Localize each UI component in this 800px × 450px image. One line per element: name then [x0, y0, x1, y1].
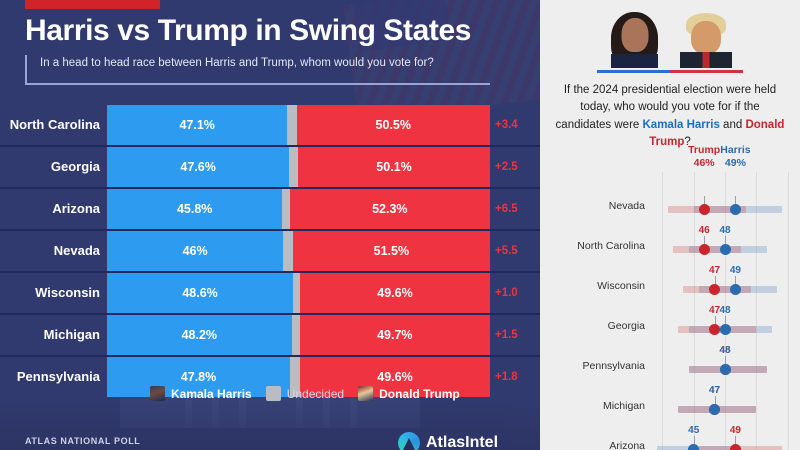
harris-value-label: 49 — [730, 265, 741, 276]
trump-photo — [670, 8, 741, 68]
trump-segment: 49.6% — [300, 273, 490, 313]
trump-face-shape — [691, 21, 721, 54]
undecided-segment — [292, 315, 300, 355]
dot-row: Wisconsin4749 — [540, 266, 800, 306]
bar-row: Michigan48.2%49.7%+1.5 — [0, 313, 540, 355]
dot-row-state-label: Georgia — [540, 306, 645, 346]
bar-row-state-label: Pennsylvania — [0, 357, 100, 397]
question-conjunction: and — [720, 119, 742, 131]
trump-dot[interactable] — [699, 204, 710, 215]
infographic-root: Harris vs Trump in Swing States In a hea… — [0, 0, 800, 450]
left-panel: Harris vs Trump in Swing States In a hea… — [0, 0, 540, 450]
dot-row: Georgia4748 — [540, 306, 800, 346]
trump-margin-label: +1.0 — [495, 273, 518, 313]
undecided-swatch-icon — [266, 386, 281, 401]
bar-track: 47.1%50.5% — [107, 105, 490, 145]
trump-value-label: 46 — [699, 225, 710, 236]
bar-row-state-label: North Carolina — [0, 105, 100, 145]
page-title: Harris vs Trump in Swing States — [25, 14, 471, 48]
trump-margin-label: +1.8 — [495, 357, 518, 397]
harris-segment: 47.1% — [107, 105, 287, 145]
trump-margin-label: +3.4 — [495, 105, 518, 145]
harris-value-label: 48 — [719, 345, 730, 356]
bar-row: Wisconsin48.6%49.6%+1.0 — [0, 271, 540, 313]
trump-margin-label: +1.5 — [495, 315, 518, 355]
trump-dot[interactable] — [730, 444, 741, 450]
harris-dot[interactable] — [730, 284, 741, 295]
trump-segment: 50.5% — [297, 105, 490, 145]
legend-item-undecided: Undecided — [266, 386, 344, 401]
bar-row-state-label: Nevada — [0, 231, 100, 271]
harris-portrait-icon — [150, 386, 165, 401]
bar-row: North Carolina47.1%50.5%+3.4 — [0, 105, 540, 145]
brand-name: AtlasIntel — [426, 434, 498, 450]
trump-portrait-icon — [358, 386, 373, 401]
stacked-bar-chart: North Carolina47.1%50.5%+3.4Georgia47.6%… — [0, 105, 540, 397]
trump-margin-label: +5.5 — [495, 231, 518, 271]
bar-row: Georgia47.6%50.1%+2.5 — [0, 145, 540, 187]
atlasintel-logo-icon — [398, 432, 420, 450]
harris-value-label: 47 — [709, 385, 720, 396]
harris-value-label: 48 — [719, 305, 730, 316]
harris-dot[interactable] — [720, 244, 731, 255]
harris-value-label: 45 — [688, 425, 699, 436]
bar-track: 48.2%49.7% — [107, 315, 490, 355]
undecided-segment — [289, 147, 298, 187]
harris-segment: 48.6% — [107, 273, 293, 313]
harris-body-shape — [611, 54, 658, 68]
harris-dot[interactable] — [720, 324, 731, 335]
dot-row-state-label: Nevada — [540, 186, 645, 226]
footer-source-note: ATLAS NATIONAL POLL — [25, 436, 140, 446]
subtitle-bracket-decoration — [25, 55, 36, 85]
harris-segment: 47.6% — [107, 147, 289, 187]
undecided-segment — [293, 273, 300, 313]
harris-photo — [599, 8, 670, 68]
harris-segment: 46% — [107, 231, 283, 271]
bar-track: 48.6%49.6% — [107, 273, 490, 313]
dot-row: Nevada — [540, 186, 800, 226]
question-harris-name: Kamala Harris — [643, 119, 720, 131]
dot-row-state-label: Wisconsin — [540, 266, 645, 306]
legend-label-undecided: Undecided — [287, 387, 344, 401]
trump-tie-shape — [702, 52, 709, 68]
legend-item-trump: Donald Trump — [358, 386, 460, 401]
bar-track: 46%51.5% — [107, 231, 490, 271]
dot-row: North Carolina4648 — [540, 226, 800, 266]
harris-value-label: 48 — [719, 225, 730, 236]
bar-row-state-label: Wisconsin — [0, 273, 100, 313]
bar-track: 47.6%50.1% — [107, 147, 490, 187]
brand-logo: AtlasIntel — [398, 432, 498, 450]
dot-row-state-label: Pennsylvania — [540, 346, 645, 386]
trump-margin-label: +6.5 — [495, 189, 518, 229]
trump-segment: 50.1% — [298, 147, 490, 187]
poll-question: If the 2024 presidential election were h… — [554, 82, 786, 151]
trump-segment: 51.5% — [293, 231, 490, 271]
dot-row-state-label: Arizona — [540, 426, 645, 450]
bar-row-state-label: Georgia — [0, 147, 100, 187]
dot-row: Michigan4747 — [540, 386, 800, 426]
subtitle-underline-decoration — [34, 83, 490, 85]
undecided-segment — [282, 189, 289, 229]
harris-dot[interactable] — [709, 404, 720, 415]
dot-row: Pennsylvania4848 — [540, 346, 800, 386]
bar-track: 45.8%52.3% — [107, 189, 490, 229]
top-red-accent-bar — [25, 0, 160, 9]
trump-margin-label: +2.5 — [495, 147, 518, 187]
dot-row-state-label: North Carolina — [540, 226, 645, 266]
subtitle-text: In a head to head race between Harris an… — [40, 57, 434, 69]
legend-label-harris: Kamala Harris — [171, 387, 252, 401]
bar-row: Arizona45.8%52.3%+6.5 — [0, 187, 540, 229]
harris-dot[interactable] — [720, 364, 731, 375]
dotplot-header-harris-name: Harris — [720, 144, 750, 156]
subtitle-block: In a head to head race between Harris an… — [25, 55, 495, 85]
trump-dot[interactable] — [709, 284, 720, 295]
harris-segment: 48.2% — [107, 315, 292, 355]
bar-row-state-label: Arizona — [0, 189, 100, 229]
right-panel: If the 2024 presidential election were h… — [540, 0, 800, 450]
trump-value-label: 49 — [730, 425, 741, 436]
chart-legend: Kamala Harris Undecided Donald Trump — [150, 386, 460, 401]
harris-face-shape — [621, 18, 648, 52]
dot-row-state-label: Michigan — [540, 386, 645, 426]
harris-dot[interactable] — [688, 444, 699, 450]
trump-segment: 52.3% — [290, 189, 490, 229]
trump-segment: 49.7% — [300, 315, 490, 355]
dotplot-header-harris-value: 49% — [725, 157, 746, 169]
trump-dot[interactable] — [699, 244, 710, 255]
trump-value-label: 47 — [709, 265, 720, 276]
dotplot-header-harris: Harris49% — [710, 144, 760, 169]
legend-label-trump: Donald Trump — [379, 387, 460, 401]
bar-row-state-label: Michigan — [0, 315, 100, 355]
photo-underline-decoration — [597, 70, 743, 73]
harris-dot[interactable] — [730, 204, 741, 215]
candidate-photos — [599, 8, 741, 72]
legend-item-harris: Kamala Harris — [150, 386, 252, 401]
undecided-segment — [283, 231, 293, 271]
harris-segment: 45.8% — [107, 189, 282, 229]
trump-dot[interactable] — [709, 324, 720, 335]
dot-plot-chart: Trump46%Harris49%NevadaNorth Carolina464… — [540, 158, 800, 450]
question-line-1: If the 2024 presidential election were — [564, 84, 751, 96]
bar-row: Nevada46%51.5%+5.5 — [0, 229, 540, 271]
undecided-segment — [287, 105, 296, 145]
dot-row: Arizona4945 — [540, 426, 800, 450]
